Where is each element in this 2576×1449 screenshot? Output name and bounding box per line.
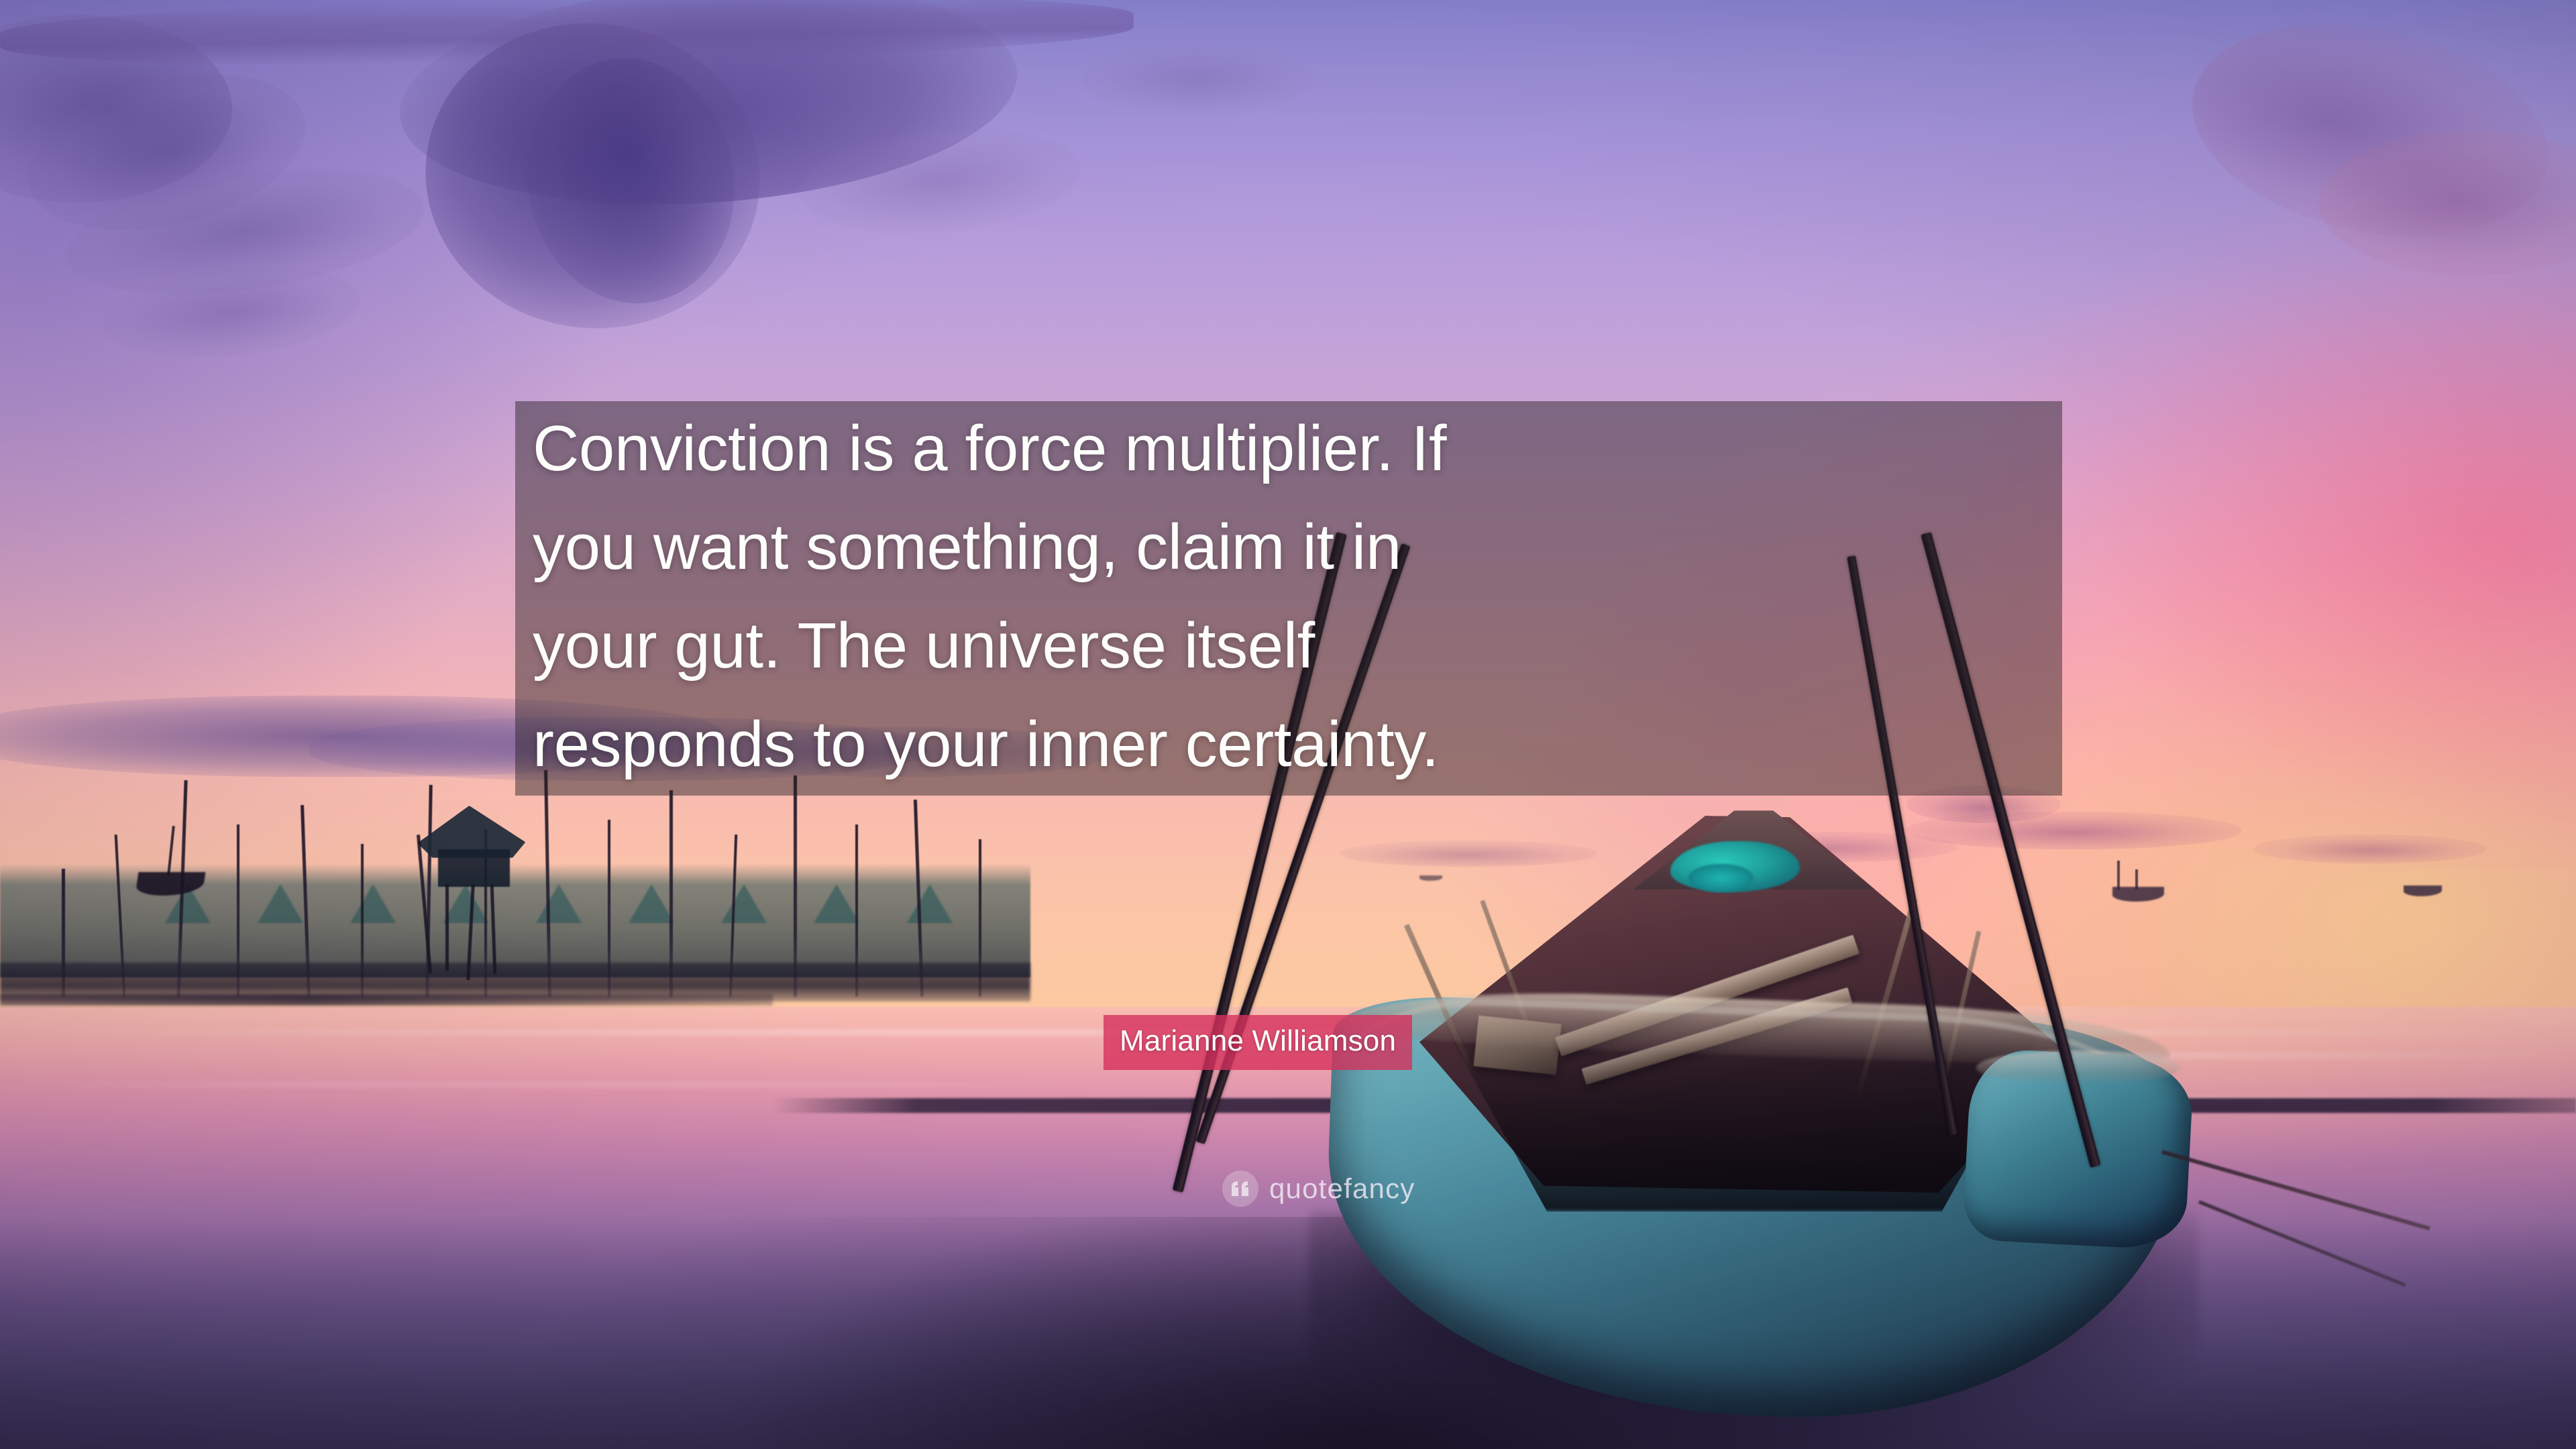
quote-line: your gut. The universe itself: [515, 598, 2062, 697]
quote-line: you want something, claim it in: [515, 500, 2062, 598]
quotefancy-brand-text: quotefancy: [1269, 1175, 1415, 1203]
quote-text-block: Conviction is a force multiplier. If you…: [515, 401, 2062, 796]
quote-poster: Conviction is a force multiplier. If you…: [0, 0, 2576, 1449]
quote-line: responds to your inner certainty.: [515, 697, 2062, 796]
author-name: Marianne Williamson: [1104, 1015, 1412, 1070]
author-attribution: Marianne Williamson: [1104, 1015, 1412, 1070]
quotefancy-watermark[interactable]: quotefancy: [1222, 1171, 1415, 1207]
quote-line: Conviction is a force multiplier. If: [515, 401, 2062, 500]
quote-mark-icon: [1222, 1171, 1258, 1207]
